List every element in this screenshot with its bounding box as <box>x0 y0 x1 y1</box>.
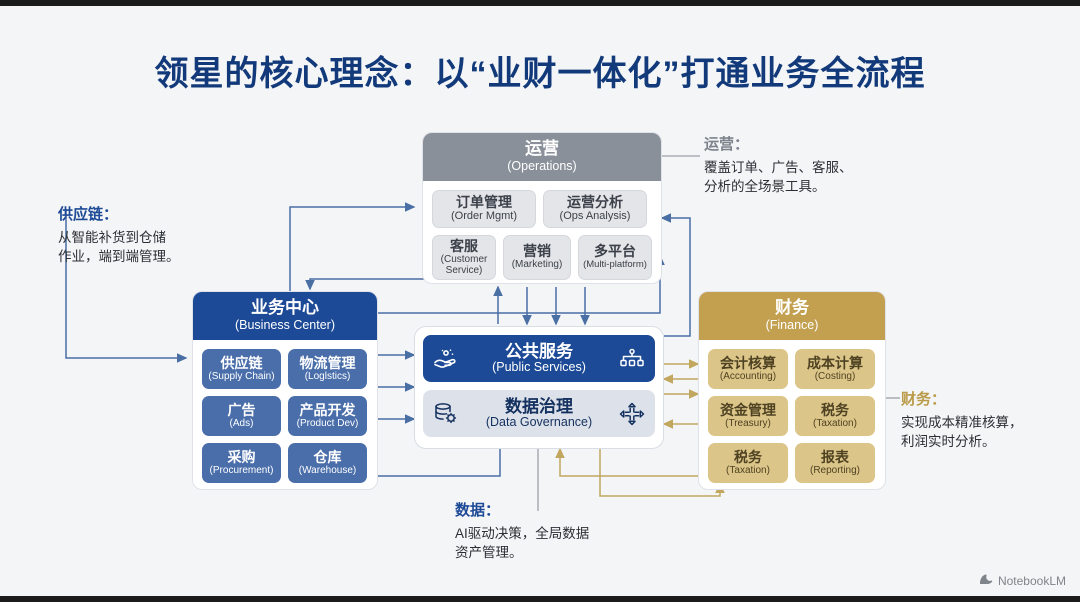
tile-costing-cn: 成本计算 <box>807 356 863 371</box>
tile-procurement-cn: 采购 <box>228 450 256 465</box>
tile-procurement[interactable]: 采购 (Procurement) <box>202 443 281 483</box>
bar-public-services-en: (Public Services) <box>469 361 609 374</box>
tile-treasury-cn: 资金管理 <box>720 403 776 418</box>
module-operations-title-cn: 运营 <box>423 140 661 158</box>
annotation-operations: 运营： 覆盖订单、广告、客服、 分析的全场景工具。 <box>704 134 904 197</box>
tile-order-mgmt-en: (Order Mgmt) <box>451 211 517 223</box>
annotation-data: 数据： AI驱动决策，全局数据 资产管理。 <box>455 500 675 563</box>
tile-reporting-en: (Reporting) <box>810 466 860 477</box>
tile-marketing[interactable]: 营销 (Marketing) <box>503 235 571 280</box>
tile-multi-platform-cn: 多平台 <box>594 244 636 259</box>
tile-accounting-cn: 会计核算 <box>720 356 776 371</box>
tile-ops-analysis-cn: 运营分析 <box>567 195 623 210</box>
module-platform-center[interactable]: 公共服务 (Public Services) <box>414 326 664 449</box>
annotation-operations-line2: 分析的全场景工具。 <box>704 177 904 197</box>
tile-ads-en: (Ads) <box>230 419 254 430</box>
tile-product-dev-cn: 产品开发 <box>300 403 356 418</box>
tile-marketing-cn: 营销 <box>523 244 551 259</box>
tile-customer-service-en: (Customer Service) <box>435 255 493 277</box>
tile-order-mgmt[interactable]: 订单管理 (Order Mgmt) <box>432 190 536 228</box>
module-business-center-tiles: 供应链 (Supply Chain) 物流管理 (Loglstics) 广告 (… <box>193 340 377 490</box>
database-gear-icon <box>423 401 469 427</box>
tile-logistics-cn: 物流管理 <box>300 356 356 371</box>
tile-supply-chain-cn: 供应链 <box>221 356 263 371</box>
module-business-center[interactable]: 业务中心 (Business Center) 供应链 (Supply Chain… <box>192 291 378 490</box>
tile-treasury-en: (Treasury) <box>725 419 771 430</box>
tile-marketing-en: (Marketing) <box>512 260 563 271</box>
tile-procurement-en: (Procurement) <box>210 466 274 477</box>
tile-ads-cn: 广告 <box>228 403 256 418</box>
annotation-data-title: 数据： <box>455 500 675 522</box>
tile-treasury[interactable]: 资金管理 (Treasury) <box>708 396 788 436</box>
annotation-supply-chain-line2: 作业，端到端管理。 <box>58 247 218 267</box>
annotation-data-line2: 资产管理。 <box>455 543 675 563</box>
tile-warehouse-cn: 仓库 <box>314 450 342 465</box>
tile-warehouse[interactable]: 仓库 (Warehouse) <box>288 443 367 483</box>
annotation-operations-title: 运营： <box>704 134 904 156</box>
bar-data-governance-cn: 数据治理 <box>469 398 609 416</box>
annotation-finance: 财务： 实现成本精准核算， 利润实时分析。 <box>901 389 1076 452</box>
tile-accounting[interactable]: 会计核算 (Accounting) <box>708 349 788 389</box>
tile-taxation-2[interactable]: 税务 (Taxation) <box>708 443 788 483</box>
tile-ops-analysis-en: (Ops Analysis) <box>560 211 631 223</box>
module-business-center-title-cn: 业务中心 <box>193 299 377 317</box>
annotation-supply-chain: 供应链： 从智能补货到仓储 作业，端到端管理。 <box>58 204 218 267</box>
notebooklm-watermark-label: NotebookLM <box>998 574 1066 588</box>
module-operations-header: 运营 (Operations) <box>423 133 661 181</box>
tile-taxation-1-en: (Taxation) <box>813 419 857 430</box>
module-operations[interactable]: 运营 (Operations) 订单管理 (Order Mgmt) 运营分析 (… <box>422 132 662 284</box>
annotation-supply-chain-line1: 从智能补货到仓储 <box>58 228 218 248</box>
tile-customer-service-cn: 客服 <box>450 239 478 254</box>
tile-costing[interactable]: 成本计算 (Costing) <box>795 349 875 389</box>
notebooklm-watermark: NotebookLM <box>979 573 1066 588</box>
slide-canvas: 领星的核心理念：以“业财一体化”打通业务全流程 <box>0 6 1080 596</box>
tile-logistics-en: (Loglstics) <box>305 372 351 383</box>
bar-data-governance-labels: 数据治理 (Data Governance) <box>469 398 609 430</box>
tile-taxation-2-cn: 税务 <box>734 450 762 465</box>
module-business-center-title-en: (Business Center) <box>193 319 377 332</box>
hand-service-icon <box>423 346 469 372</box>
module-finance-title-en: (Finance) <box>699 319 885 332</box>
tile-ops-analysis[interactable]: 运营分析 (Ops Analysis) <box>543 190 647 228</box>
module-finance[interactable]: 财务 (Finance) 会计核算 (Accounting) 成本计算 (Cos… <box>698 291 886 490</box>
tile-order-mgmt-cn: 订单管理 <box>456 195 512 210</box>
tile-multi-platform-en: (Multi-platform) <box>583 260 647 270</box>
bar-public-services-cn: 公共服务 <box>469 343 609 361</box>
module-finance-tiles: 会计核算 (Accounting) 成本计算 (Costing) 资金管理 (T… <box>699 340 885 490</box>
notebooklm-logo-icon <box>979 573 993 588</box>
tile-taxation-2-en: (Taxation) <box>726 466 770 477</box>
tile-accounting-en: (Accounting) <box>720 372 776 383</box>
annotation-supply-chain-title: 供应链： <box>58 204 218 226</box>
annotation-data-line1: AI驱动决策，全局数据 <box>455 524 675 544</box>
module-finance-header: 财务 (Finance) <box>699 292 885 340</box>
tile-multi-platform[interactable]: 多平台 (Multi-platform) <box>578 235 652 280</box>
tile-product-dev[interactable]: 产品开发 (Product Dev) <box>288 396 367 436</box>
bar-data-governance[interactable]: 数据治理 (Data Governance) <box>423 390 655 437</box>
tile-reporting-cn: 报表 <box>821 450 849 465</box>
tile-reporting[interactable]: 报表 (Reporting) <box>795 443 875 483</box>
annotation-finance-line2: 利润实时分析。 <box>901 432 1076 452</box>
bar-public-services-labels: 公共服务 (Public Services) <box>469 343 609 375</box>
tile-customer-service[interactable]: 客服 (Customer Service) <box>432 235 496 280</box>
tile-supply-chain[interactable]: 供应链 (Supply Chain) <box>202 349 281 389</box>
tile-taxation-1[interactable]: 税务 (Taxation) <box>795 396 875 436</box>
tile-product-dev-en: (Product Dev) <box>297 419 359 430</box>
tile-ads[interactable]: 广告 (Ads) <box>202 396 281 436</box>
tile-warehouse-en: (Warehouse) <box>299 466 356 477</box>
annotation-operations-line1: 覆盖订单、广告、客服、 <box>704 158 904 178</box>
tile-logistics[interactable]: 物流管理 (Loglstics) <box>288 349 367 389</box>
tile-supply-chain-en: (Supply Chain) <box>208 372 274 383</box>
tile-taxation-1-cn: 税务 <box>821 403 849 418</box>
module-operations-tiles: 订单管理 (Order Mgmt) 运营分析 (Ops Analysis) 客服… <box>423 181 661 284</box>
module-business-center-header: 业务中心 (Business Center) <box>193 292 377 340</box>
annotation-finance-title: 财务： <box>901 389 1076 411</box>
module-finance-title-cn: 财务 <box>699 299 885 317</box>
annotation-finance-line1: 实现成本精准核算， <box>901 413 1076 433</box>
org-chart-icon <box>609 346 655 372</box>
data-flow-icon <box>609 401 655 427</box>
bar-data-governance-en: (Data Governance) <box>469 416 609 429</box>
tile-costing-en: (Costing) <box>815 372 856 383</box>
bar-public-services[interactable]: 公共服务 (Public Services) <box>423 335 655 382</box>
module-operations-title-en: (Operations) <box>423 160 661 173</box>
